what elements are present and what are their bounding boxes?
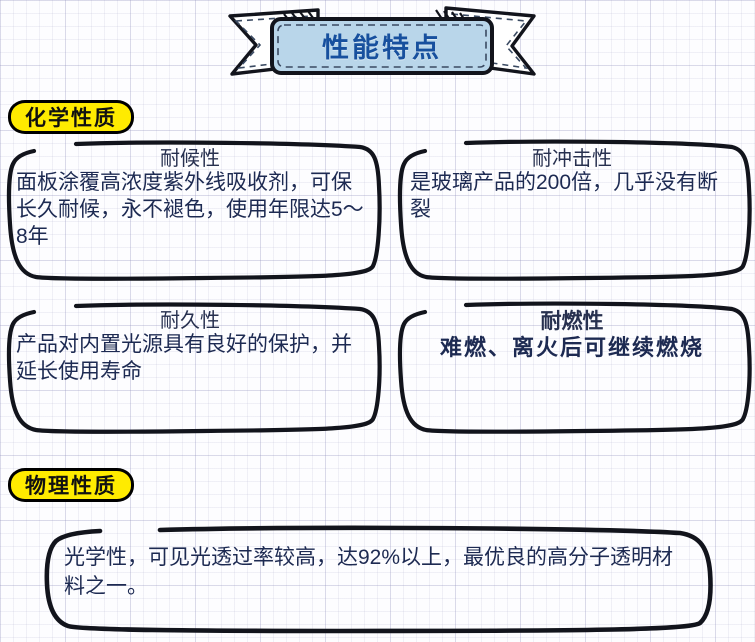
feature-box-optical: 光学性，可见光透过率较高，达92%以上，最优良的高分子透明材料之一。 xyxy=(40,524,716,634)
section-label-physical: 物理性质 xyxy=(8,468,134,502)
box-title: 耐候性 xyxy=(16,148,364,170)
feature-box-flame: 耐燃性 难燃、离火后可继续燃烧 xyxy=(396,300,752,435)
box-body: 面板涂覆高浓度紫外线吸收剂，可保长久耐候，永不褪色，使用年限达5～8年 xyxy=(16,170,364,251)
box-body: 光学性，可见光透过率较高，达92%以上，最优良的高分子透明材料之一。 xyxy=(64,544,686,602)
feature-box-weather: 耐候性 面板涂覆高浓度紫外线吸收剂，可保长久耐候，永不褪色，使用年限达5～8年 xyxy=(4,138,382,283)
box-content: 光学性，可见光透过率较高，达92%以上，最优良的高分子透明材料之一。 xyxy=(40,524,716,634)
infographic-page: 性能特点 化学性质 物理性质 耐候性 面板涂覆高浓度紫外线吸收剂，可保长久耐候，… xyxy=(0,0,755,642)
page-title: 性能特点 xyxy=(278,24,486,66)
section-label-chemical: 化学性质 xyxy=(8,100,134,134)
box-content: 耐冲击性 是玻璃产品的200倍，几乎没有断裂 xyxy=(396,138,752,283)
box-title: 耐冲击性 xyxy=(410,148,734,170)
box-title: 耐燃性 xyxy=(410,310,734,334)
box-content: 耐燃性 难燃、离火后可继续燃烧 xyxy=(396,300,752,435)
box-content: 耐久性 产品对内置光源具有良好的保护，并延长使用寿命 xyxy=(4,300,382,435)
feature-box-durability: 耐久性 产品对内置光源具有良好的保护，并延长使用寿命 xyxy=(4,300,382,435)
ribbon-banner: 性能特点 xyxy=(222,2,542,90)
box-content: 耐候性 面板涂覆高浓度紫外线吸收剂，可保长久耐候，永不褪色，使用年限达5～8年 xyxy=(4,138,382,283)
feature-box-impact: 耐冲击性 是玻璃产品的200倍，几乎没有断裂 xyxy=(396,138,752,283)
box-body: 难燃、离火后可继续燃烧 xyxy=(410,334,734,362)
box-body: 是玻璃产品的200倍，几乎没有断裂 xyxy=(410,170,734,224)
box-body: 产品对内置光源具有良好的保护，并延长使用寿命 xyxy=(16,332,364,386)
box-title: 耐久性 xyxy=(16,310,364,332)
